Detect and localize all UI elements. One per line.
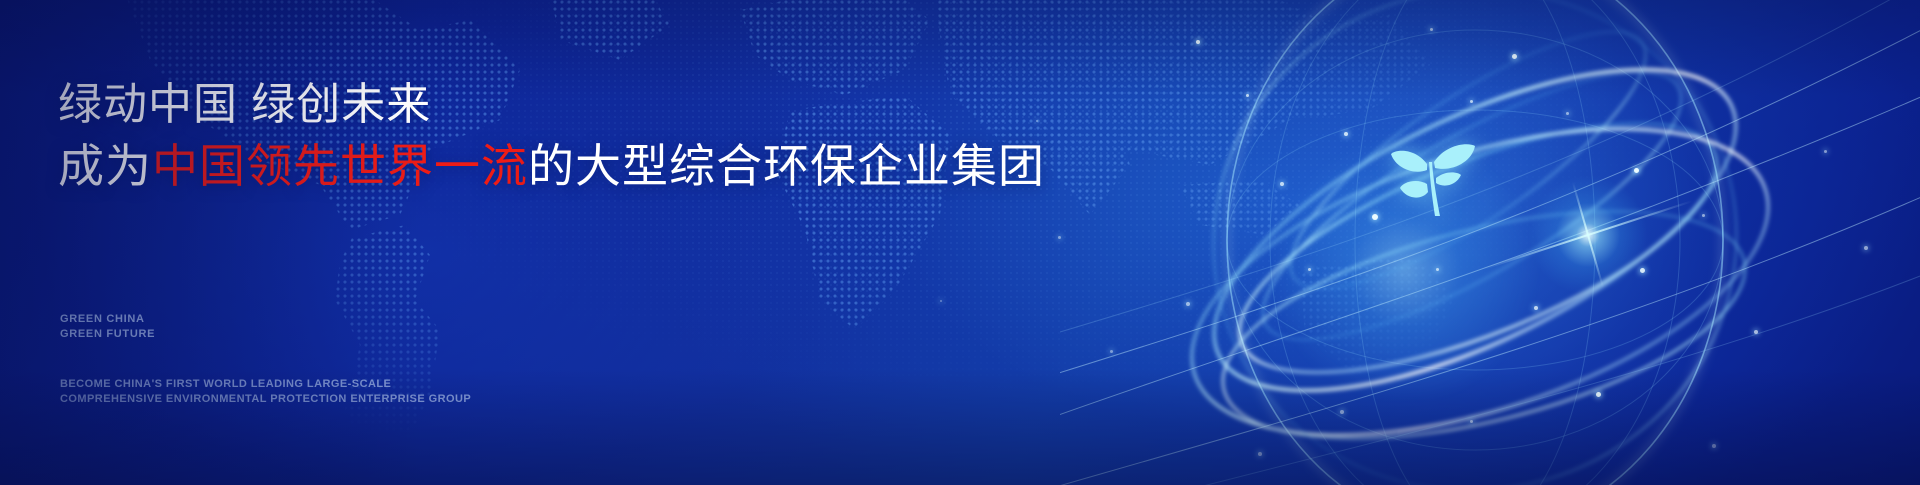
headline-line-2-prefix: 成为 (58, 140, 152, 192)
headline: 绿动中国 绿创未来 成为中国领先世界一流的大型综合环保企业集团 (58, 78, 1058, 194)
globe-orbit-icon (1060, 0, 1920, 485)
headline-line-2: 成为中国领先世界一流的大型综合环保企业集团 (58, 138, 1058, 194)
globe-glow (1255, 140, 1555, 400)
headline-line-1: 绿动中国 绿创未来 (58, 78, 1058, 132)
headline-line-2-suffix: 的大型综合环保企业集团 (528, 140, 1045, 192)
subtitle-english-line-1: GREEN CHINA (60, 312, 155, 327)
subtitle-english-line-2: GREEN FUTURE (60, 327, 155, 342)
tagline-english-line-1: BECOME CHINA'S FIRST WORLD LEADING LARGE… (60, 377, 471, 392)
sprout-icon (1382, 128, 1478, 220)
tagline-english-line-2: COMPREHENSIVE ENVIRONMENTAL PROTECTION E… (60, 392, 471, 407)
headline-line-2-highlight: 中国领先世界一流 (152, 140, 528, 192)
hero-banner: 绿动中国 绿创未来 成为中国领先世界一流的大型综合环保企业集团 GREEN CH… (0, 0, 1920, 485)
globe-core-flare (1528, 175, 1648, 295)
banner-copy: 绿动中国 绿创未来 成为中国领先世界一流的大型综合环保企业集团 GREEN CH… (58, 0, 1058, 485)
tagline-english: BECOME CHINA'S FIRST WORLD LEADING LARGE… (60, 377, 471, 407)
subtitle-english: GREEN CHINA GREEN FUTURE (60, 312, 155, 342)
